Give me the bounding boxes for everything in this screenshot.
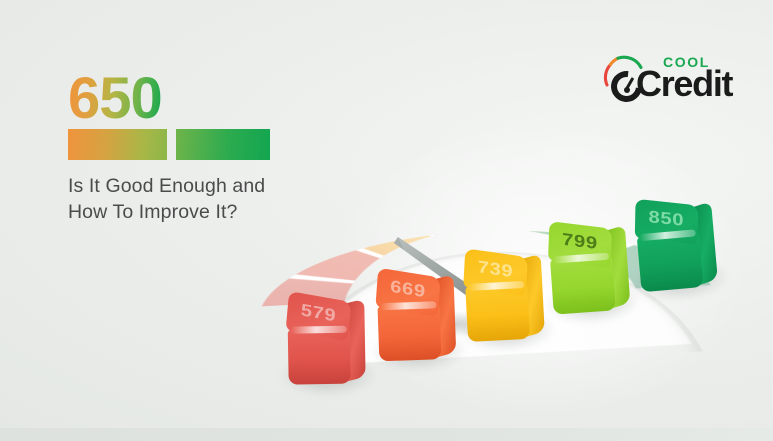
floor-band [0,428,773,441]
subtitle: Is It Good Enough and How To Improve It? [68,173,408,225]
subtitle-line-2: How To Improve It? [68,199,408,225]
score-cube-850: 850 [634,198,720,300]
cool-credit-logo[interactable]: COOL Credit [600,47,725,109]
cube-gloss-highlight [291,326,347,334]
page-title-score: 650 [68,72,162,125]
score-cube-739: 739 [464,250,547,350]
credit-score-label: CREDITSCORE [68,129,408,160]
score-cube-799: 799 [548,221,633,322]
gauge-hub-icon [624,87,630,93]
label-score: SCORE [176,129,271,160]
subtitle-line-1: Is It Good Enough and [68,173,408,199]
headline-block: 650 CREDITSCORE Is It Good Enough and Ho… [68,72,408,226]
score-cube-579: 579 [287,295,367,392]
label-credit: CREDIT [68,129,167,160]
score-cube-669: 669 [376,271,457,370]
logo-word-credit: Credit [636,63,732,105]
